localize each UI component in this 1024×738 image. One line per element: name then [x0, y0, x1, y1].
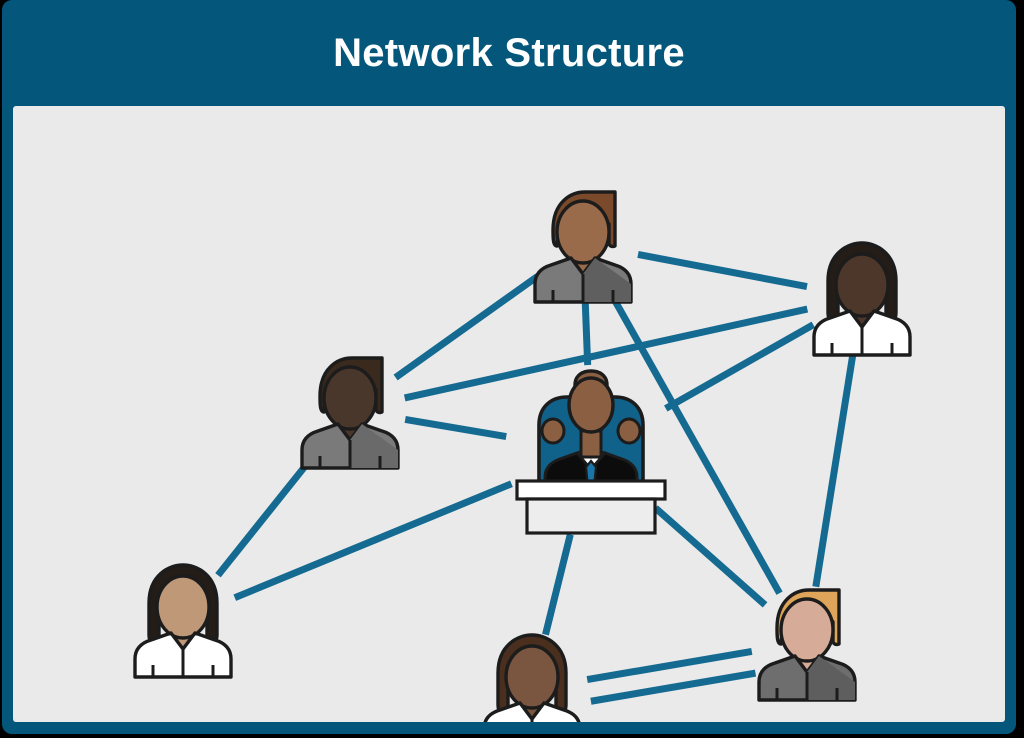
network-edge	[638, 254, 807, 286]
network-edge	[816, 352, 853, 586]
diagram-card: Network Structure	[2, 0, 1016, 734]
network-node-right-top[interactable]	[802, 237, 922, 357]
network-edge	[405, 419, 506, 436]
network-node-bottom-center[interactable]	[472, 629, 592, 722]
network-node-bottom-right[interactable]	[747, 582, 867, 702]
network-node-left-middle[interactable]	[290, 350, 410, 470]
network-edge	[396, 276, 538, 377]
network-canvas	[13, 106, 1005, 722]
network-node-top-center[interactable]	[523, 184, 643, 304]
network-edge	[585, 300, 588, 365]
network-edge	[218, 454, 315, 576]
page-title: Network Structure	[333, 31, 685, 76]
header-bar: Network Structure	[2, 0, 1016, 106]
network-edge	[545, 534, 570, 634]
network-node-center-exec[interactable]	[501, 369, 681, 539]
network-node-bottom-left[interactable]	[123, 559, 243, 679]
